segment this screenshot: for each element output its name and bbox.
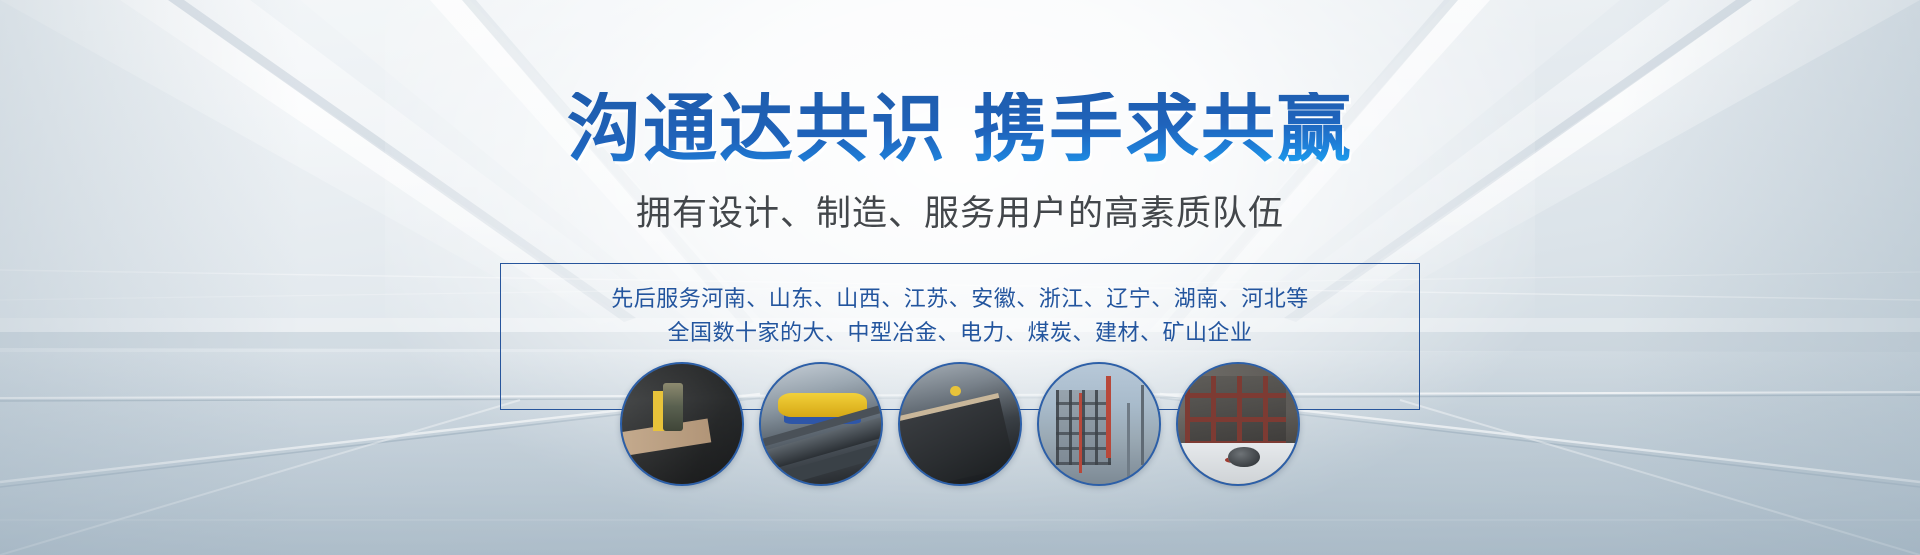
thumbnail-worker-steel-plate[interactable] <box>620 362 744 486</box>
headline-part-2: 携手求共赢 <box>973 87 1353 170</box>
hero-banner: 沟通达共识携手求共赢 拥有设计、制造、服务用户的高素质队伍 先后服务河南、山东、… <box>0 0 1920 555</box>
thumbnail-yellow-machine-pipes[interactable] <box>759 362 883 486</box>
worker-steel-plate-photo <box>622 364 742 484</box>
project-thumbnail-row <box>620 348 1300 500</box>
thumbnail-plant-construction-crane[interactable] <box>1037 362 1161 486</box>
service-scope-text: 先后服务河南、山东、山西、江苏、安徽、浙江、辽宁、湖南、河北等 全国数十家的大、… <box>501 282 1419 350</box>
thumbnail-steel-panel-lifting[interactable] <box>898 362 1022 486</box>
steel-panel-lifting-photo <box>900 364 1020 484</box>
banner-headline: 沟通达共识携手求共赢 <box>0 92 1920 166</box>
equipment-blob <box>1228 447 1259 467</box>
yellow-machine-pipes-photo <box>761 364 881 484</box>
workshop-equipment-photo <box>1178 364 1298 484</box>
plant-construction-crane-photo <box>1039 364 1159 484</box>
service-scope-line-1: 先后服务河南、山东、山西、江苏、安徽、浙江、辽宁、湖南、河北等 <box>501 282 1419 316</box>
banner-subtitle: 拥有设计、制造、服务用户的高素质队伍 <box>0 196 1920 231</box>
headline-part-1: 沟通达共识 <box>567 87 947 170</box>
service-scope-line-2: 全国数十家的大、中型冶金、电力、煤炭、建材、矿山企业 <box>501 316 1419 350</box>
thumbnail-workshop-equipment[interactable] <box>1176 362 1300 486</box>
banner-content: 沟通达共识携手求共赢 拥有设计、制造、服务用户的高素质队伍 先后服务河南、山东、… <box>0 0 1920 555</box>
